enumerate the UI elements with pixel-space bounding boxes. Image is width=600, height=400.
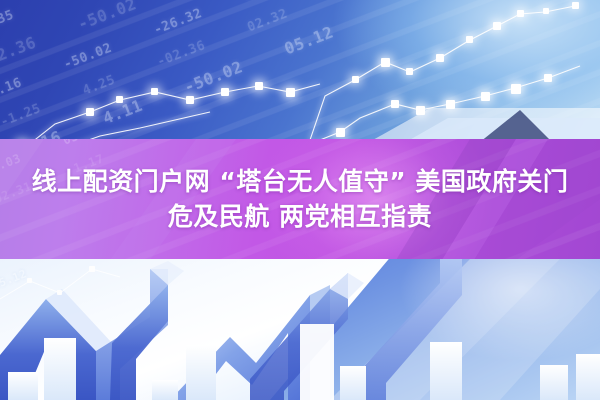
- ticker-number: 05.12: [0, 267, 29, 292]
- bottom-chart-section: 02.3205.12: [0, 259, 600, 400]
- news-banner-image: -5.02-02.3521.06-11.25-45.02-02.364.36+4…: [0, 0, 600, 400]
- top-blue-section: -5.02-02.3521.06-11.25-45.02-02.364.36+4…: [0, 0, 600, 142]
- headline-band: 02.3603.151.2502.3568.0303.1502.311.17 线…: [0, 139, 600, 260]
- glowing-line-chart-network: [0, 0, 600, 142]
- headline-line-2: 危及民航 两党相互指责: [168, 202, 432, 232]
- ticker-number: 02.32: [0, 259, 18, 265]
- headline-line-1: 线上配资门户网 “塔台无人值守” 美国政府关门: [32, 167, 569, 197]
- headline-text-block: 线上配资门户网 “塔台无人值守” 美国政府关门 危及民航 两党相互指责: [0, 139, 600, 260]
- ticker-number-row: 02.32: [0, 259, 171, 265]
